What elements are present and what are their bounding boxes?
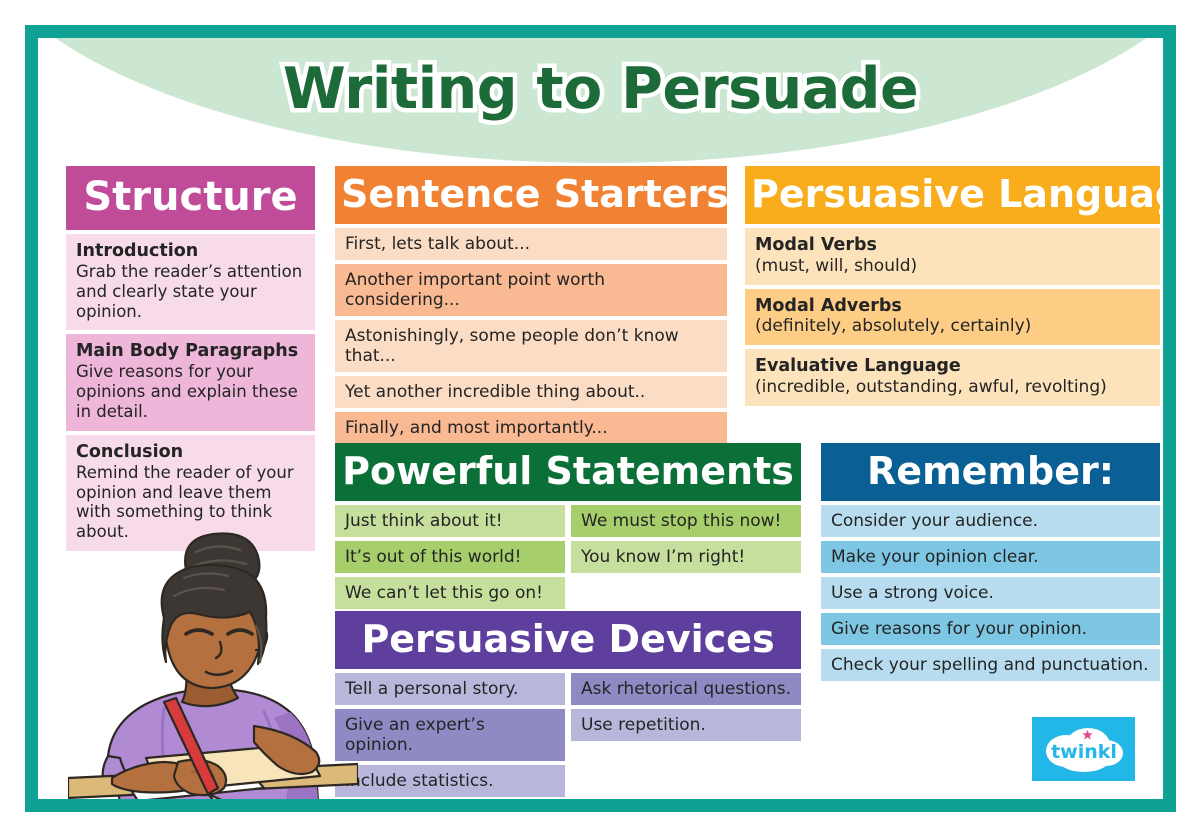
persuasive-language-term: Evaluative Language bbox=[755, 356, 1150, 377]
persuasive-language-examples: (definitely, absolutely, certainly) bbox=[755, 316, 1150, 336]
girl-writing-at-desk-illustration bbox=[68, 526, 358, 799]
persuasive-language-term: Modal Adverbs bbox=[755, 296, 1150, 317]
card-powerful-statements: Powerful Statements Just think about it!… bbox=[335, 443, 801, 609]
card-powerful-statements-heading: Powerful Statements bbox=[335, 443, 801, 501]
persuasive-language-examples: (incredible, outstanding, awful, revolti… bbox=[755, 377, 1150, 397]
card-persuasive-devices-heading: Persuasive Devices bbox=[335, 611, 801, 669]
twinkl-logo: twinkl bbox=[1032, 717, 1135, 781]
page-title: Writing to Persuade bbox=[38, 56, 1163, 122]
persuasive-language-examples: (must, will, should) bbox=[755, 256, 1150, 276]
card-sentence-starters-heading: Sentence Starters bbox=[335, 166, 727, 224]
persuasive-device-row: Use repetition. bbox=[571, 709, 801, 741]
persuasive-language-item: Evaluative Language (incredible, outstan… bbox=[745, 349, 1160, 406]
remember-row: Use a strong voice. bbox=[821, 577, 1160, 609]
powerful-statement-row: Just think about it! bbox=[335, 505, 565, 537]
remember-row: Consider your audience. bbox=[821, 505, 1160, 537]
remember-row: Give reasons for your opinion. bbox=[821, 613, 1160, 645]
persuasive-language-term: Modal Verbs bbox=[755, 235, 1150, 256]
structure-item-body: Give reasons for your opinions and expla… bbox=[76, 362, 305, 421]
persuasive-devices-right-column: Ask rhetorical questions. Use repetition… bbox=[571, 669, 801, 741]
sentence-starter-row: Finally, and most importantly... bbox=[335, 412, 727, 444]
card-sentence-starters: Sentence Starters First, lets talk about… bbox=[335, 166, 727, 480]
powerful-statement-row: We must stop this now! bbox=[571, 505, 801, 537]
powerful-statements-left-column: Just think about it! It’s out of this wo… bbox=[335, 501, 565, 609]
twinkl-wordmark: twinkl bbox=[1051, 741, 1117, 763]
remember-row: Check your spelling and punctuation. bbox=[821, 649, 1160, 681]
persuasive-device-row: Ask rhetorical questions. bbox=[571, 673, 801, 705]
poster-frame: Writing to Persuade Structure Introducti… bbox=[25, 25, 1176, 812]
persuasive-device-row: Give an expert’s opinion. bbox=[335, 709, 565, 761]
powerful-statement-row: It’s out of this world! bbox=[335, 541, 565, 573]
sentence-starter-row: Yet another incredible thing about.. bbox=[335, 376, 727, 408]
persuasive-device-row: Tell a personal story. bbox=[335, 673, 565, 705]
powerful-statement-row: You know I’m right! bbox=[571, 541, 801, 573]
sentence-starter-row: Another important point worth considerin… bbox=[335, 264, 727, 316]
card-structure-heading: Structure bbox=[66, 166, 315, 230]
structure-item-title: Main Body Paragraphs bbox=[76, 341, 305, 362]
persuasive-device-row: Include statistics. bbox=[335, 765, 565, 797]
persuasive-language-item: Modal Adverbs (definitely, absolutely, c… bbox=[745, 289, 1160, 346]
remember-row: Make your opinion clear. bbox=[821, 541, 1160, 573]
sentence-starter-row: Astonishingly, some people don’t know th… bbox=[335, 320, 727, 372]
structure-item-title: Conclusion bbox=[76, 442, 305, 463]
structure-item: Introduction Grab the reader’s attention… bbox=[66, 234, 315, 330]
card-persuasive-devices: Persuasive Devices Tell a personal story… bbox=[335, 611, 801, 797]
persuasive-devices-left-column: Tell a personal story. Give an expert’s … bbox=[335, 669, 565, 797]
structure-item-title: Introduction bbox=[76, 241, 305, 262]
card-persuasive-language-heading: Persuasive Language bbox=[745, 166, 1160, 224]
card-remember: Remember: Consider your audience. Make y… bbox=[821, 443, 1160, 681]
persuasive-language-item: Modal Verbs (must, will, should) bbox=[745, 228, 1160, 285]
card-structure: Structure Introduction Grab the reader’s… bbox=[66, 166, 315, 551]
structure-item-body: Grab the reader’s attention and clearly … bbox=[76, 262, 305, 321]
powerful-statement-row: We can’t let this go on! bbox=[335, 577, 565, 609]
structure-item: Main Body Paragraphs Give reasons for yo… bbox=[66, 334, 315, 430]
powerful-statements-right-column: We must stop this now! You know I’m righ… bbox=[571, 501, 801, 573]
card-persuasive-language: Persuasive Language Modal Verbs (must, w… bbox=[745, 166, 1160, 406]
card-remember-heading: Remember: bbox=[821, 443, 1160, 501]
sentence-starter-row: First, lets talk about... bbox=[335, 228, 727, 260]
